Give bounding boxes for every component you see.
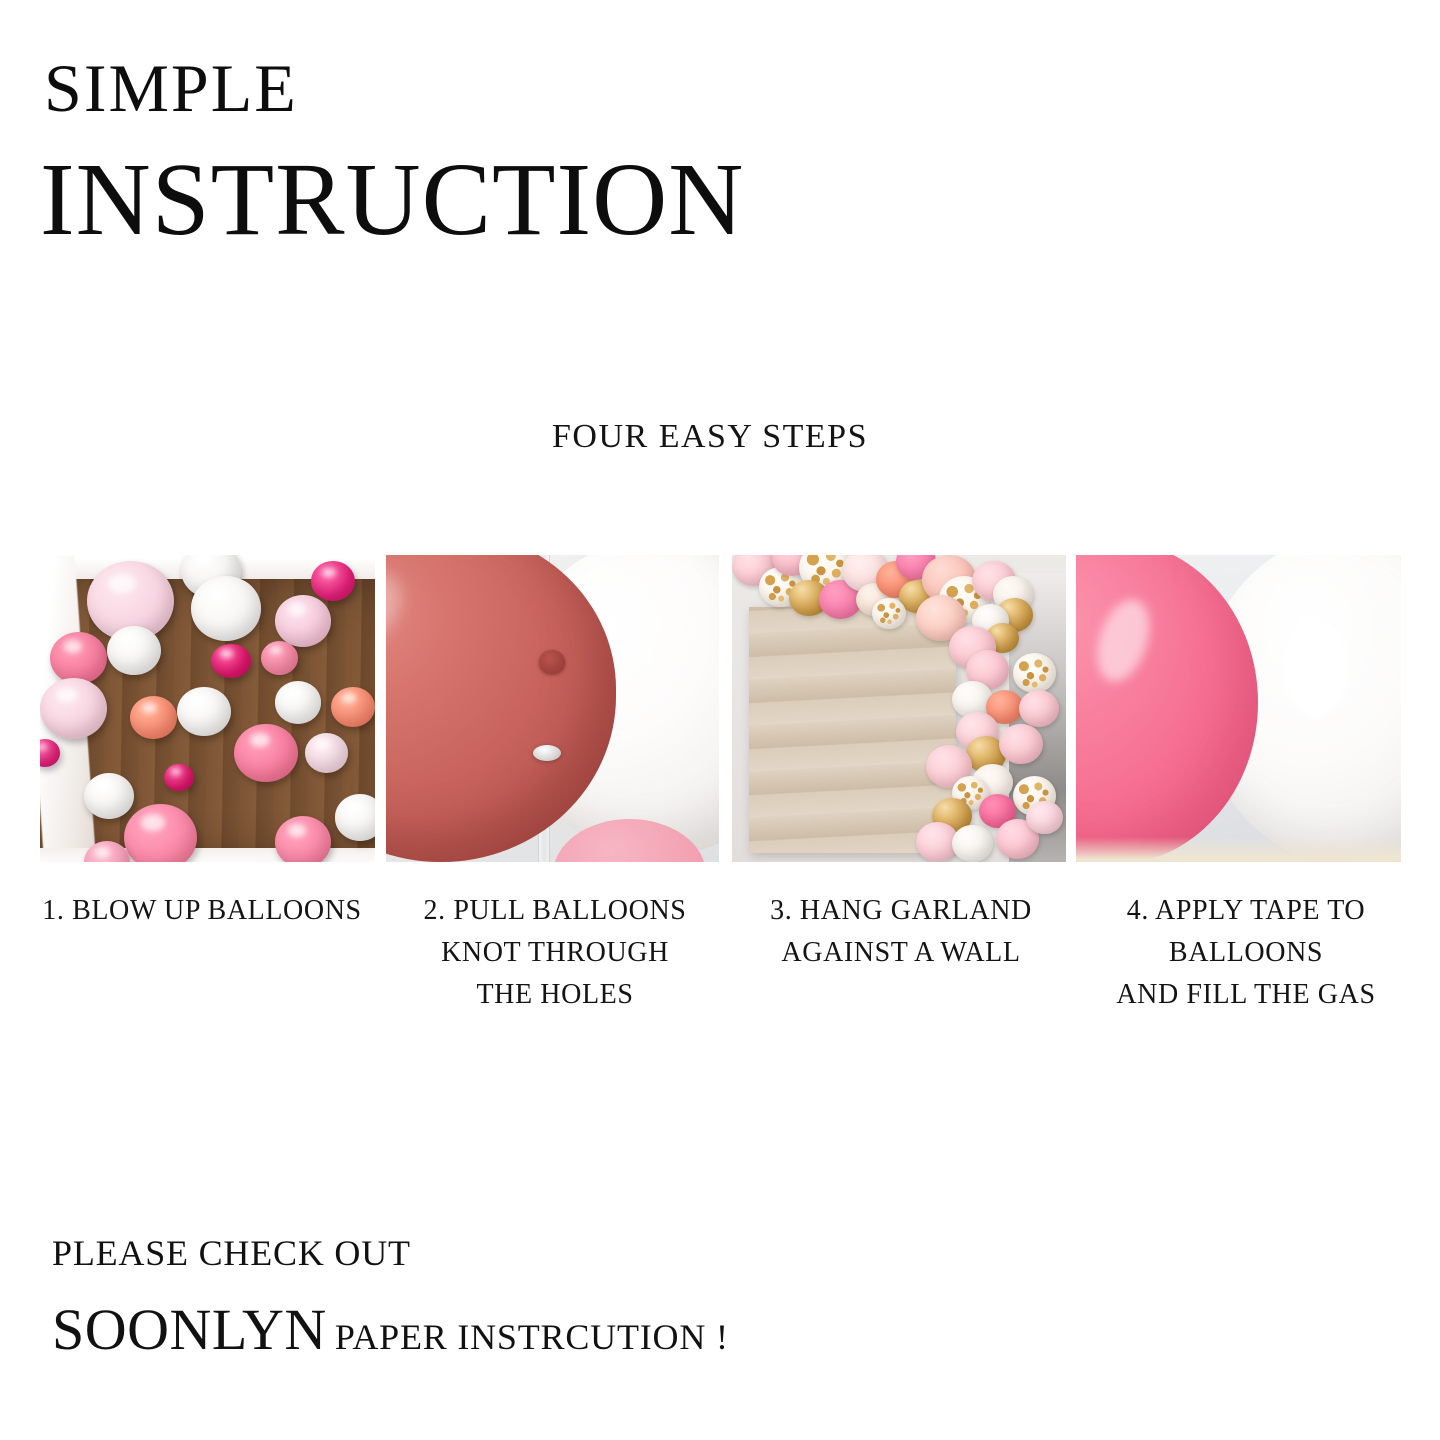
- step-photo-1: [40, 555, 375, 862]
- garland-balloon: [999, 724, 1042, 764]
- balloon: [311, 561, 355, 601]
- caption-line: 2. PULL BALLOONS: [380, 890, 730, 932]
- page-subtitle: FOUR EASY STEPS: [0, 418, 1440, 456]
- footer-tail-text: PAPER INSTRCUTION !: [327, 1317, 729, 1357]
- wood-plank-backdrop: [749, 607, 956, 853]
- caption-line: 4. APPLY TAPE TO: [1078, 890, 1414, 932]
- garland-balloon: [1026, 801, 1063, 835]
- balloon: [177, 687, 231, 736]
- balloon: [211, 644, 251, 678]
- caption-line: 3. HANG GARLAND: [732, 890, 1070, 932]
- step-photo-3-scene: [732, 555, 1066, 862]
- balloon: [191, 576, 261, 640]
- step-caption-3: 3. HANG GARLAND AGAINST A WALL: [732, 890, 1070, 974]
- page-title-line1: SIMPLE: [44, 54, 298, 122]
- caption-line: THE HOLES: [380, 974, 730, 1016]
- caption-line: BALLOONS: [1078, 932, 1414, 974]
- balloon: [275, 816, 332, 862]
- balloon: [305, 733, 349, 773]
- balloon: [275, 681, 322, 724]
- balloon-knot: [539, 650, 565, 674]
- step-photo-3: [732, 555, 1066, 862]
- caption-line: AGAINST A WALL: [732, 932, 1070, 974]
- caption-line: 1. BLOW UP BALLOONS: [22, 890, 382, 932]
- step-caption-2: 2. PULL BALLOONS KNOT THROUGH THE HOLES: [380, 890, 730, 1016]
- floor-strip: [1076, 837, 1401, 862]
- balloon: [331, 687, 375, 727]
- step-photo-2-scene: [386, 555, 719, 862]
- glue-dot: [533, 745, 561, 761]
- step-photo-1-scene: [40, 555, 375, 862]
- caption-line: KNOT THROUGH: [380, 932, 730, 974]
- step-photo-2: [386, 555, 719, 862]
- page-subtitle-text: FOUR EASY STEPS: [552, 418, 868, 456]
- balloon: [50, 632, 107, 684]
- balloon: [335, 794, 375, 840]
- balloon: [275, 595, 332, 647]
- garland-balloon-confetti: [872, 598, 905, 629]
- step-caption-1: 1. BLOW UP BALLOONS: [22, 890, 382, 932]
- instruction-poster: SIMPLE INSTRUCTION FOUR EASY STEPS: [0, 0, 1440, 1440]
- footer-line1: PLEASE CHECK OUT: [52, 1232, 411, 1274]
- balloon: [40, 678, 107, 739]
- brand-name: SOONLYN: [52, 1297, 327, 1362]
- footer-line2: SOONLYNPAPER INSTRCUTION !: [52, 1296, 729, 1363]
- balloon: [84, 773, 134, 819]
- balloon: [107, 626, 161, 675]
- garland-balloon-confetti: [1013, 653, 1056, 693]
- step-photo-4-scene: [1076, 555, 1401, 862]
- steps-photo-strip: [0, 555, 1440, 862]
- balloon: [234, 724, 298, 782]
- balloon: [261, 641, 298, 675]
- step-photo-4: [1076, 555, 1401, 862]
- page-title-line2: INSTRUCTION: [40, 148, 744, 252]
- garland-balloon: [1019, 690, 1059, 727]
- steps-captions: 1. BLOW UP BALLOONS 2. PULL BALLOONS KNO…: [0, 890, 1440, 1030]
- step-caption-4: 4. APPLY TAPE TO BALLOONS AND FILL THE G…: [1078, 890, 1414, 1016]
- caption-line: AND FILL THE GAS: [1078, 974, 1414, 1016]
- garland-balloon: [952, 825, 992, 862]
